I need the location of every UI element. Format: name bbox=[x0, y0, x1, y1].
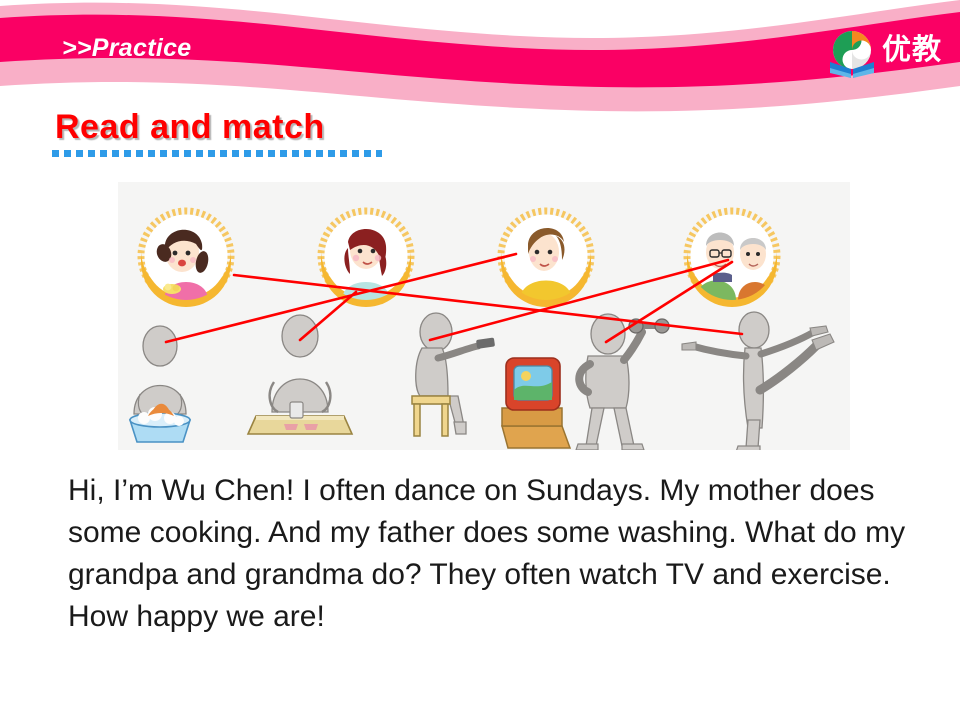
tv-set bbox=[502, 358, 570, 448]
match-picture-panel bbox=[118, 182, 850, 450]
header-banner: >>Practice bbox=[0, 0, 960, 118]
section-underline bbox=[52, 150, 382, 157]
slide: >>Practice 优教 Read and match bbox=[0, 0, 960, 720]
girl-portrait bbox=[141, 211, 231, 307]
section-title: Read and match bbox=[55, 108, 325, 147]
reading-paragraph: Hi, I’m Wu Chen! I often dance on Sunday… bbox=[68, 470, 936, 638]
page-title: >>Practice bbox=[62, 34, 192, 63]
father-portrait bbox=[501, 211, 591, 307]
brand-logo: 优教 bbox=[826, 28, 946, 82]
logo-emblem-icon bbox=[826, 28, 878, 80]
logo-text: 优教 bbox=[882, 35, 942, 64]
grandparents-portrait bbox=[687, 211, 777, 307]
